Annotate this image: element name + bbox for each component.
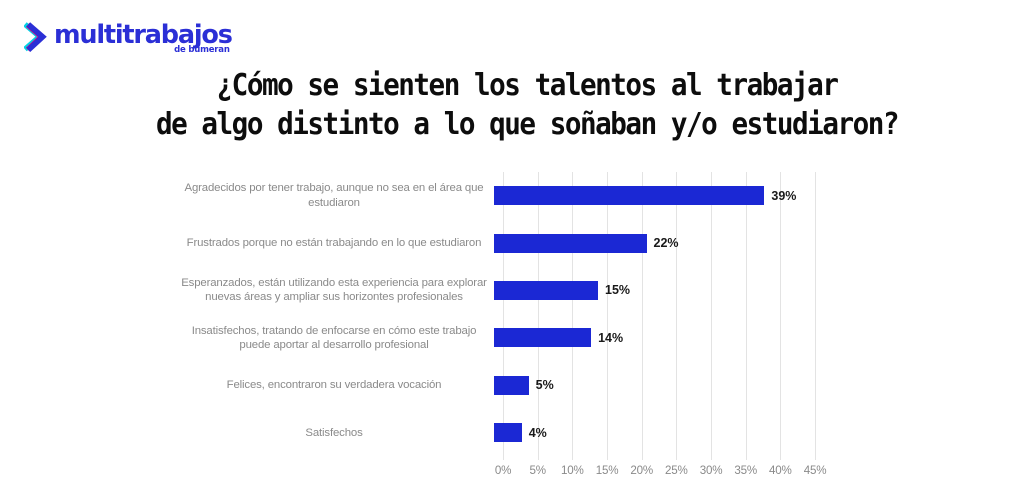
chart-row: Felices, encontraron su verdadera vocaci…	[180, 362, 830, 409]
bar-chart: Agradecidos por tener trabajo, aunque no…	[0, 160, 1024, 480]
x-axis-tick-label: 40%	[769, 464, 792, 477]
x-axis-tick-label: 35%	[734, 464, 757, 477]
brand-logo[interactable]: multitrabajos de bumeran	[24, 22, 232, 56]
page-title-line-2: de algo distinto a lo que soñaban y/o es…	[70, 105, 984, 144]
x-axis-tick-label: 5%	[529, 464, 545, 477]
bar-track: 14%	[494, 314, 830, 361]
bar-track: 5%	[494, 362, 830, 409]
bar-track: 4%	[494, 409, 830, 456]
page-title-line-1: ¿Cómo se sienten los talentos al trabaja…	[70, 66, 984, 105]
bar[interactable]	[494, 234, 647, 253]
page-title: ¿Cómo se sienten los talentos al trabaja…	[0, 66, 1024, 144]
chart-rows: Agradecidos por tener trabajo, aunque no…	[180, 172, 830, 456]
bar-value-label: 4%	[529, 426, 547, 440]
bar-value-label: 5%	[536, 378, 554, 392]
category-label: Insatisfechos, tratando de enfocarse en …	[180, 324, 494, 352]
bar[interactable]	[494, 423, 522, 442]
category-label: Felices, encontraron su verdadera vocaci…	[180, 378, 494, 392]
x-axis-tick-label: 25%	[665, 464, 688, 477]
category-label: Esperanzados, están utilizando esta expe…	[180, 276, 494, 304]
chart-row: Frustrados porque no están trabajando en…	[180, 219, 830, 266]
x-axis: 0%5%10%15%20%25%30%35%40%45%	[503, 460, 815, 482]
chart-row: Satisfechos4%	[180, 409, 830, 456]
x-axis-tick-label: 15%	[596, 464, 619, 477]
bar[interactable]	[494, 376, 529, 395]
chevron-right-icon	[24, 22, 50, 52]
chart-row: Esperanzados, están utilizando esta expe…	[180, 267, 830, 314]
x-axis-tick-label: 30%	[700, 464, 723, 477]
bar[interactable]	[494, 281, 598, 300]
chart-row: Agradecidos por tener trabajo, aunque no…	[180, 172, 830, 219]
bar-value-label: 15%	[605, 283, 630, 297]
bar-track: 15%	[494, 267, 830, 314]
bar-value-label: 39%	[771, 189, 796, 203]
category-label: Frustrados porque no están trabajando en…	[180, 236, 494, 250]
x-axis-tick-label: 10%	[561, 464, 584, 477]
bar-track: 39%	[494, 172, 830, 219]
x-axis-tick-label: 45%	[804, 464, 827, 477]
bar[interactable]	[494, 186, 764, 205]
category-label: Agradecidos por tener trabajo, aunque no…	[180, 181, 494, 209]
bar-value-label: 22%	[654, 236, 679, 250]
x-axis-tick-label: 20%	[630, 464, 653, 477]
bar[interactable]	[494, 328, 591, 347]
bar-track: 22%	[494, 219, 830, 266]
x-axis-tick-label: 0%	[495, 464, 511, 477]
category-label: Satisfechos	[180, 426, 494, 440]
chart-row: Insatisfechos, tratando de enfocarse en …	[180, 314, 830, 361]
bar-value-label: 14%	[598, 331, 623, 345]
